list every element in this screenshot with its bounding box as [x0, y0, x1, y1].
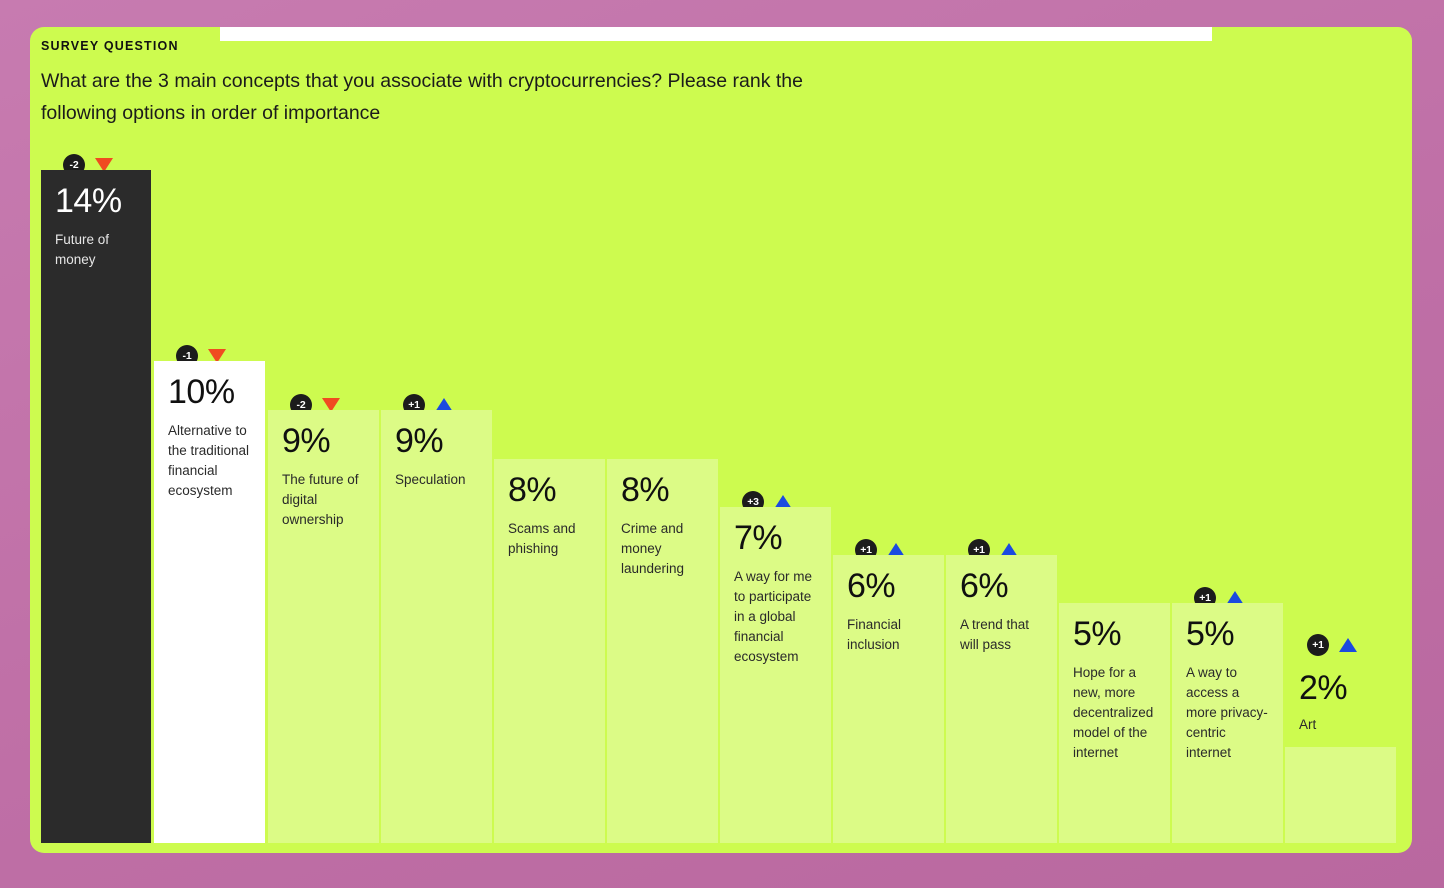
bar[interactable]: 5%Hope for a new, more decentralized mod…: [1059, 603, 1170, 843]
bar[interactable]: 7%A way for me to participate in a globa…: [720, 507, 831, 843]
bar-column[interactable]: +37%A way for me to participate in a glo…: [720, 27, 831, 843]
bar-value: 7%: [734, 521, 817, 555]
bar-value: 8%: [621, 473, 704, 507]
bar-value: 6%: [847, 569, 930, 603]
bar-label: The future of digital ownership: [282, 470, 365, 530]
bar-value: 5%: [1186, 617, 1269, 651]
bar-value: 2%: [1299, 671, 1412, 705]
bar-chart: -214%Future of money-110%Alternative to …: [41, 27, 1412, 853]
bar-value: 5%: [1073, 617, 1156, 651]
bar-column[interactable]: +19%Speculation: [381, 27, 492, 843]
bar-value: 9%: [282, 424, 365, 458]
bar-value: 6%: [960, 569, 1043, 603]
bar-text-group: 2%Art: [1299, 671, 1412, 735]
bar[interactable]: 6%Financial inclusion: [833, 555, 944, 843]
bar-value: 14%: [55, 184, 137, 218]
bar-column[interactable]: 8%Crime and money laundering: [607, 27, 718, 843]
bar-label: Future of money: [55, 230, 137, 270]
bar-column[interactable]: +15%A way to access a more privacy-centr…: [1172, 27, 1283, 843]
bar-label: Financial inclusion: [847, 615, 930, 655]
bar-column[interactable]: -110%Alternative to the traditional fina…: [154, 27, 265, 843]
survey-chart-card: SURVEY QUESTION What are the 3 main conc…: [30, 27, 1412, 853]
bar[interactable]: 8%Scams and phishing: [494, 459, 605, 843]
rank-delta-badge: +1: [1307, 634, 1329, 656]
bar[interactable]: 9%The future of digital ownership: [268, 410, 379, 843]
bar[interactable]: 14%Future of money: [41, 170, 151, 843]
bar-value: 10%: [168, 375, 251, 409]
bar-label: Hope for a new, more decentralized model…: [1073, 663, 1156, 763]
bar-label: Alternative to the traditional financial…: [168, 421, 251, 501]
bar-column[interactable]: +16%Financial inclusion: [833, 27, 944, 843]
bar-column[interactable]: -29%The future of digital ownership: [268, 27, 379, 843]
bar[interactable]: 8%Crime and money laundering: [607, 459, 718, 843]
bar[interactable]: 9%Speculation: [381, 410, 492, 843]
bar[interactable]: [1285, 747, 1396, 843]
bar-column[interactable]: +12%Art: [1285, 27, 1396, 843]
bar-column[interactable]: -214%Future of money: [41, 27, 151, 843]
bar-column[interactable]: 5%Hope for a new, more decentralized mod…: [1059, 27, 1170, 843]
bar[interactable]: 10%Alternative to the traditional financ…: [154, 361, 265, 843]
bar-value: 9%: [395, 424, 478, 458]
screenshot-root: SURVEY QUESTION What are the 3 main conc…: [0, 0, 1444, 888]
bar[interactable]: 5%A way to access a more privacy-centric…: [1172, 603, 1283, 843]
bar-label: A trend that will pass: [960, 615, 1043, 655]
bar-label: Crime and money laundering: [621, 519, 704, 579]
bar-column[interactable]: 8%Scams and phishing: [494, 27, 605, 843]
triangle-up-icon: [1339, 638, 1357, 652]
bar-label: A way to access a more privacy-centric i…: [1186, 663, 1269, 763]
bar-label: Speculation: [395, 470, 478, 490]
bar-column[interactable]: +16%A trend that will pass: [946, 27, 1057, 843]
bar-label: A way for me to participate in a global …: [734, 567, 817, 667]
bar-label: Scams and phishing: [508, 519, 591, 559]
bar-label: Art: [1299, 715, 1412, 735]
bar-value: 8%: [508, 473, 591, 507]
rank-delta-group: +1: [1307, 634, 1357, 656]
bar[interactable]: 6%A trend that will pass: [946, 555, 1057, 843]
